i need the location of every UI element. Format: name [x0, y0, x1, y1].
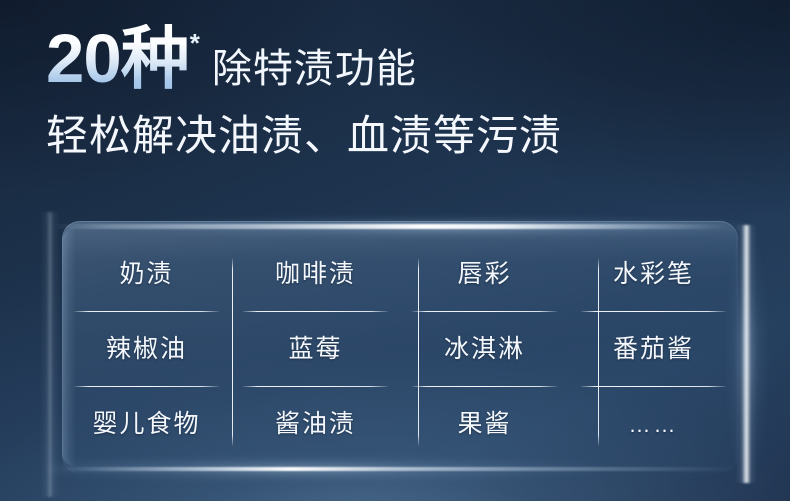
stain-cell: 酱油渍 [231, 387, 400, 462]
card-bottom-glow-line [60, 467, 740, 471]
stain-count-number: 20种 [46, 24, 191, 93]
stain-label-ellipsis: …… [629, 414, 679, 436]
stain-label: 蓝莓 [288, 337, 342, 362]
stain-cell: …… [569, 387, 738, 462]
stain-cell: 水彩笔 [569, 237, 738, 312]
stain-cell: 冰淇淋 [400, 312, 569, 387]
stain-label: 奶渍 [119, 262, 173, 287]
stain-cell: 奶渍 [62, 237, 231, 312]
card-top-glow-line [54, 224, 726, 229]
asterisk-footnote-marker: * [190, 30, 200, 56]
stain-label: 唇彩 [457, 262, 511, 287]
stain-label: 辣椒油 [106, 337, 187, 362]
left-light-streak [40, 212, 60, 497]
stain-cell: 辣椒油 [62, 312, 231, 387]
promo-banner: 20种 * 除特渍功能 轻松解决油渍、血渍等污渍 奶渍 咖啡渍 唇彩 水彩笔 辣… [0, 0, 790, 501]
stain-grid: 奶渍 咖啡渍 唇彩 水彩笔 辣椒油 蓝莓 冰淇淋 番茄酱 婴儿食物 酱油渍 果酱… [62, 237, 738, 462]
stain-cell: 蓝莓 [231, 312, 400, 387]
headline-block: 20种 * 除特渍功能 轻松解决油渍、血渍等污渍 [46, 24, 746, 159]
stain-label: 冰淇淋 [444, 337, 525, 362]
stain-cell: 婴儿食物 [62, 387, 231, 462]
stain-label: 番茄酱 [613, 337, 694, 362]
stain-label: 婴儿食物 [92, 412, 200, 437]
headline-subtitle: 除特渍功能 [212, 49, 417, 89]
stain-label: 果酱 [457, 412, 511, 437]
grid-vertical-divider [232, 258, 233, 446]
stain-cell: 唇彩 [400, 237, 569, 312]
stain-cell: 咖啡渍 [231, 237, 400, 312]
stain-label: 酱油渍 [275, 412, 356, 437]
stain-cell: 番茄酱 [569, 312, 738, 387]
stain-label: 水彩笔 [613, 262, 694, 287]
grid-vertical-divider [598, 258, 599, 446]
stain-label: 咖啡渍 [275, 262, 356, 287]
grid-vertical-divider [418, 258, 419, 446]
headline-line-2: 轻松解决油渍、血渍等污渍 [46, 112, 746, 159]
right-light-streak [735, 225, 757, 483]
headline-line-1: 20种 * 除特渍功能 [46, 24, 746, 102]
stain-cell: 果酱 [400, 387, 569, 462]
